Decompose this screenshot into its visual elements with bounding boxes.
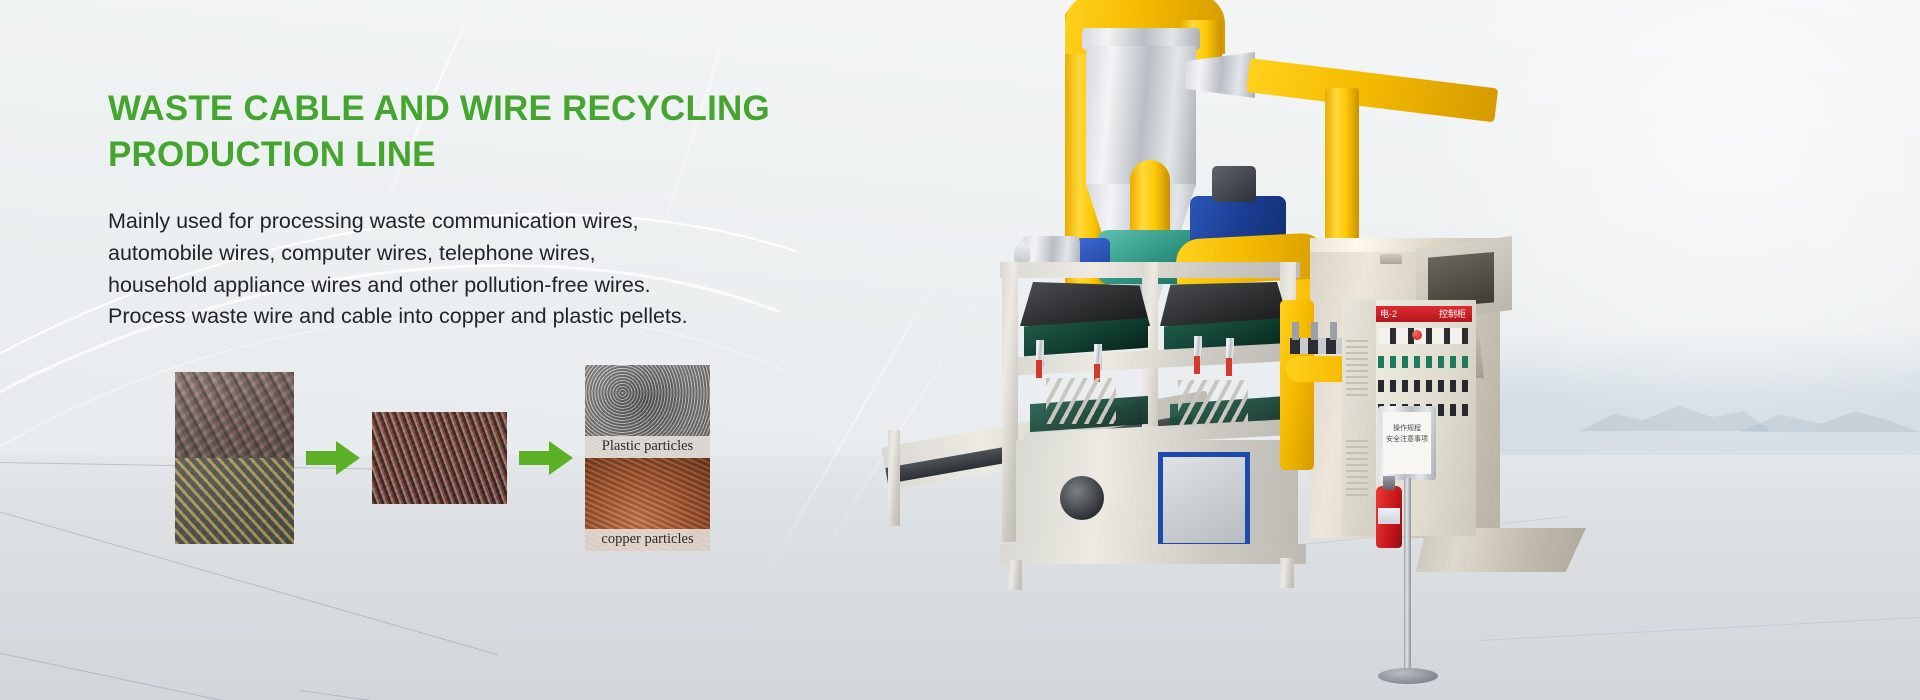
conveyor-leg xyxy=(888,430,900,526)
machine-lower-body xyxy=(1016,440,1298,550)
waste-cable-photo-bottom xyxy=(175,458,294,544)
copper-particles-photo: copper particles xyxy=(585,458,710,551)
cabinet-side-door[interactable] xyxy=(1342,300,1376,536)
extinguisher-label xyxy=(1378,508,1400,524)
cabinet-header-right-label: 控制柜 xyxy=(1439,307,1466,320)
clamp-handle-red xyxy=(1194,356,1200,374)
arrow-head xyxy=(549,441,573,475)
description-line-1: Mainly used for processing waste communi… xyxy=(108,206,868,238)
process-step-separated-output: Plastic particles copper particles xyxy=(585,365,710,551)
base-foot xyxy=(1280,558,1294,588)
extinguisher-valve xyxy=(1383,476,1395,490)
process-flow: Plastic particles copper particles xyxy=(175,365,710,551)
arrow-shaft xyxy=(306,451,340,465)
sign-stand-base xyxy=(1378,668,1438,684)
clamp-handle-red xyxy=(1036,360,1042,378)
machine-base-rail xyxy=(1000,544,1306,564)
hopper-latch xyxy=(1380,254,1402,264)
plastic-particles-photo: Plastic particles xyxy=(585,365,710,458)
cabinet-switch-row-2[interactable] xyxy=(1378,380,1468,392)
viewing-port xyxy=(1060,476,1104,520)
cabinet-vent-louvers xyxy=(1346,440,1368,500)
flow-arrow-2 xyxy=(519,441,573,475)
recycling-machine: 电-2 控制柜 操作规程 安全注意事项 xyxy=(980,0,1920,700)
product-banner: WASTE CABLE AND WIRE RECYCLING PRODUCTIO… xyxy=(0,0,1920,700)
adjustment-rods xyxy=(1046,378,1116,424)
clamp-handle-red xyxy=(1226,358,1232,376)
cabinet-switch-row-1[interactable] xyxy=(1378,356,1468,368)
description-line-2: automobile wires, computer wires, teleph… xyxy=(108,238,868,270)
headline-line-2: PRODUCTION LINE xyxy=(108,132,868,178)
cabinet-vent-louvers xyxy=(1346,340,1368,400)
copper-particles-caption: copper particles xyxy=(585,529,710,551)
info-sign-placard: 操作规程 安全注意事项 xyxy=(1383,412,1431,474)
description-line-4: Process waste wire and cable into copper… xyxy=(108,301,868,333)
banner-description: Mainly used for processing waste communi… xyxy=(108,206,868,332)
control-cabinet-header-banner: 电-2 控制柜 xyxy=(1374,306,1472,322)
sign-stand-pole xyxy=(1404,478,1411,678)
sign-line-2: 安全注意事项 xyxy=(1383,435,1431,446)
cabinet-header-left-label: 电-2 xyxy=(1380,307,1397,320)
banner-copy: WASTE CABLE AND WIRE RECYCLING PRODUCTIO… xyxy=(108,86,868,333)
headline-line-1: WASTE CABLE AND WIRE RECYCLING xyxy=(108,86,868,132)
arrow-shaft xyxy=(519,451,553,465)
arrow-head xyxy=(336,441,360,475)
process-step-waste-cable-input xyxy=(175,372,294,544)
banner-headline: WASTE CABLE AND WIRE RECYCLING PRODUCTIO… xyxy=(108,86,868,178)
base-foot xyxy=(1008,560,1022,590)
inspection-door xyxy=(1158,452,1250,548)
yellow-duct-arm xyxy=(1246,58,1498,122)
cabinet-meter-row[interactable] xyxy=(1378,328,1468,344)
plastic-particles-caption: Plastic particles xyxy=(585,436,710,458)
waste-cable-photo-top xyxy=(175,372,294,458)
cabinet-indicator-lamp xyxy=(1412,330,1422,340)
description-line-3: household appliance wires and other poll… xyxy=(108,270,868,302)
motor-top-cap xyxy=(1212,166,1256,202)
process-step-chopped-wire xyxy=(372,412,507,504)
chopped-wire-photo xyxy=(372,412,507,504)
adjustment-rods xyxy=(1178,380,1248,426)
flow-arrow-1 xyxy=(306,441,360,475)
sign-line-1: 操作规程 xyxy=(1383,412,1431,435)
